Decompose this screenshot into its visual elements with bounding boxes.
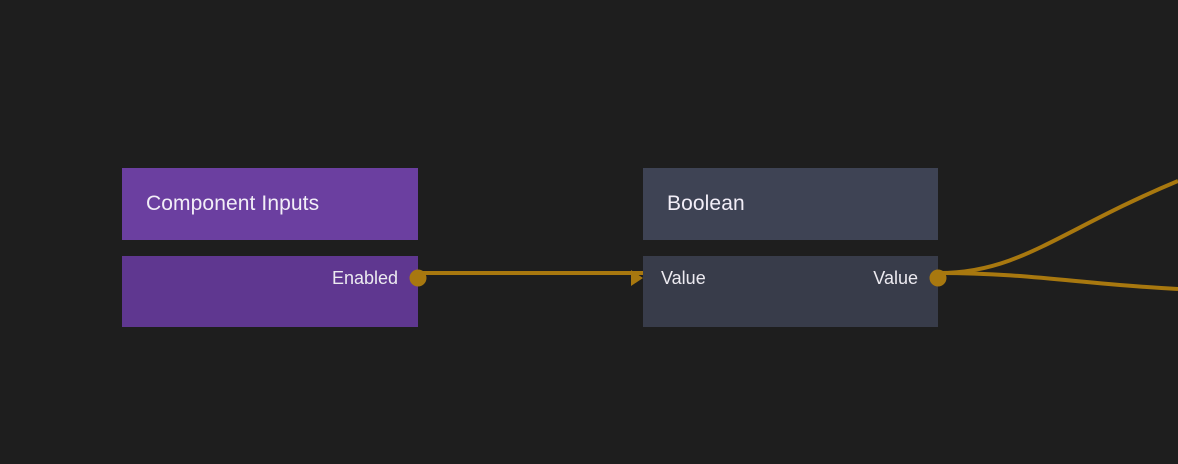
wire-value-out-upper: [939, 181, 1178, 273]
port-row-value[interactable]: Value Value: [643, 256, 938, 300]
output-port-dot-enabled[interactable]: [410, 270, 427, 287]
node-header[interactable]: Boolean: [643, 168, 938, 240]
wire-value-out-lower: [939, 273, 1178, 289]
node-title: Component Inputs: [146, 192, 319, 216]
port-label-enabled: Enabled: [332, 268, 398, 289]
node-header[interactable]: Component Inputs: [122, 168, 418, 240]
port-label-value-input: Value: [661, 268, 706, 289]
node-body: Enabled: [122, 256, 418, 327]
output-row-enabled[interactable]: Enabled: [122, 256, 418, 300]
node-body: Value Value: [643, 256, 938, 327]
node-component-inputs[interactable]: Component Inputs Enabled: [122, 168, 418, 311]
port-label-value-output: Value: [873, 268, 918, 289]
node-boolean[interactable]: Boolean Value Value: [643, 168, 938, 311]
node-title: Boolean: [667, 192, 745, 216]
output-port-dot-value[interactable]: [930, 270, 947, 287]
node-graph-canvas[interactable]: Component Inputs Enabled Boolean Value V…: [0, 0, 1178, 464]
input-port-arrow-value[interactable]: [631, 270, 643, 286]
